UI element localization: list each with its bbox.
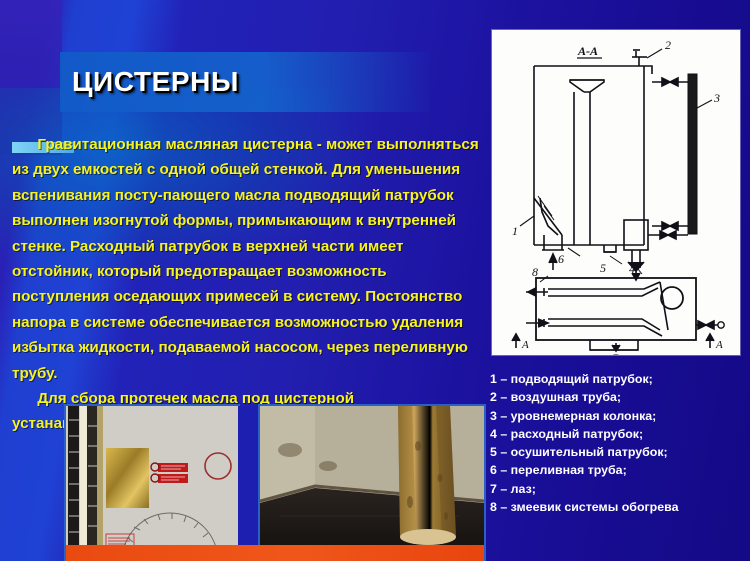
photo-oil-drip-tray (260, 406, 484, 561)
legend-item: 3 – уровнемерная колонка; (490, 407, 745, 425)
page-title: ЦИСТЕРНЫ (72, 66, 239, 98)
callout-5: 5 (600, 261, 606, 275)
legend-item: 5 – осушительный патрубок; (490, 443, 745, 461)
tank-section-drawing: A-A 2 3 (492, 30, 740, 355)
callout-1: 1 (512, 224, 518, 238)
photo-tank-gauge-panel: STOR OT (66, 406, 238, 561)
photo-drip-tray-image (260, 406, 484, 561)
callout-4: 4 (629, 262, 635, 276)
legend-item: 7 – лаз; (490, 480, 745, 498)
legend-item: 1 – подводящий патрубок; (490, 370, 745, 388)
callout-8: 8 (532, 265, 538, 279)
legend-item: 6 – переливная труба; (490, 461, 745, 479)
legend-item: 4 – расходный патрубок; (490, 425, 745, 443)
section-mark-a-right: A (715, 339, 723, 351)
technical-drawing-panel: A-A 2 3 (492, 30, 740, 355)
presentation-slide: ЦИСТЕРНЫ Гравитационная масляная цистерн… (0, 0, 750, 561)
callout-3: 3 (713, 91, 720, 105)
legend-item: 2 – воздушная труба; (490, 388, 745, 406)
legend-list: 1 – подводящий патрубок; 2 – воздушная т… (490, 370, 745, 516)
callout-7: 7 (612, 351, 619, 355)
callout-6: 6 (558, 252, 564, 266)
photo-gauge-panel-image: STOR OT (66, 406, 238, 561)
section-mark-a-left: A (521, 339, 529, 351)
body-text: Гравитационная масляная цистерна - может… (12, 132, 480, 437)
section-label-aa: A-A (577, 44, 598, 58)
photo-gap-band (238, 406, 260, 545)
legend-item: 8 – змеевик системы обогрева (490, 498, 745, 516)
callout-2: 2 (665, 38, 671, 52)
accent-strip-orange (66, 545, 484, 561)
